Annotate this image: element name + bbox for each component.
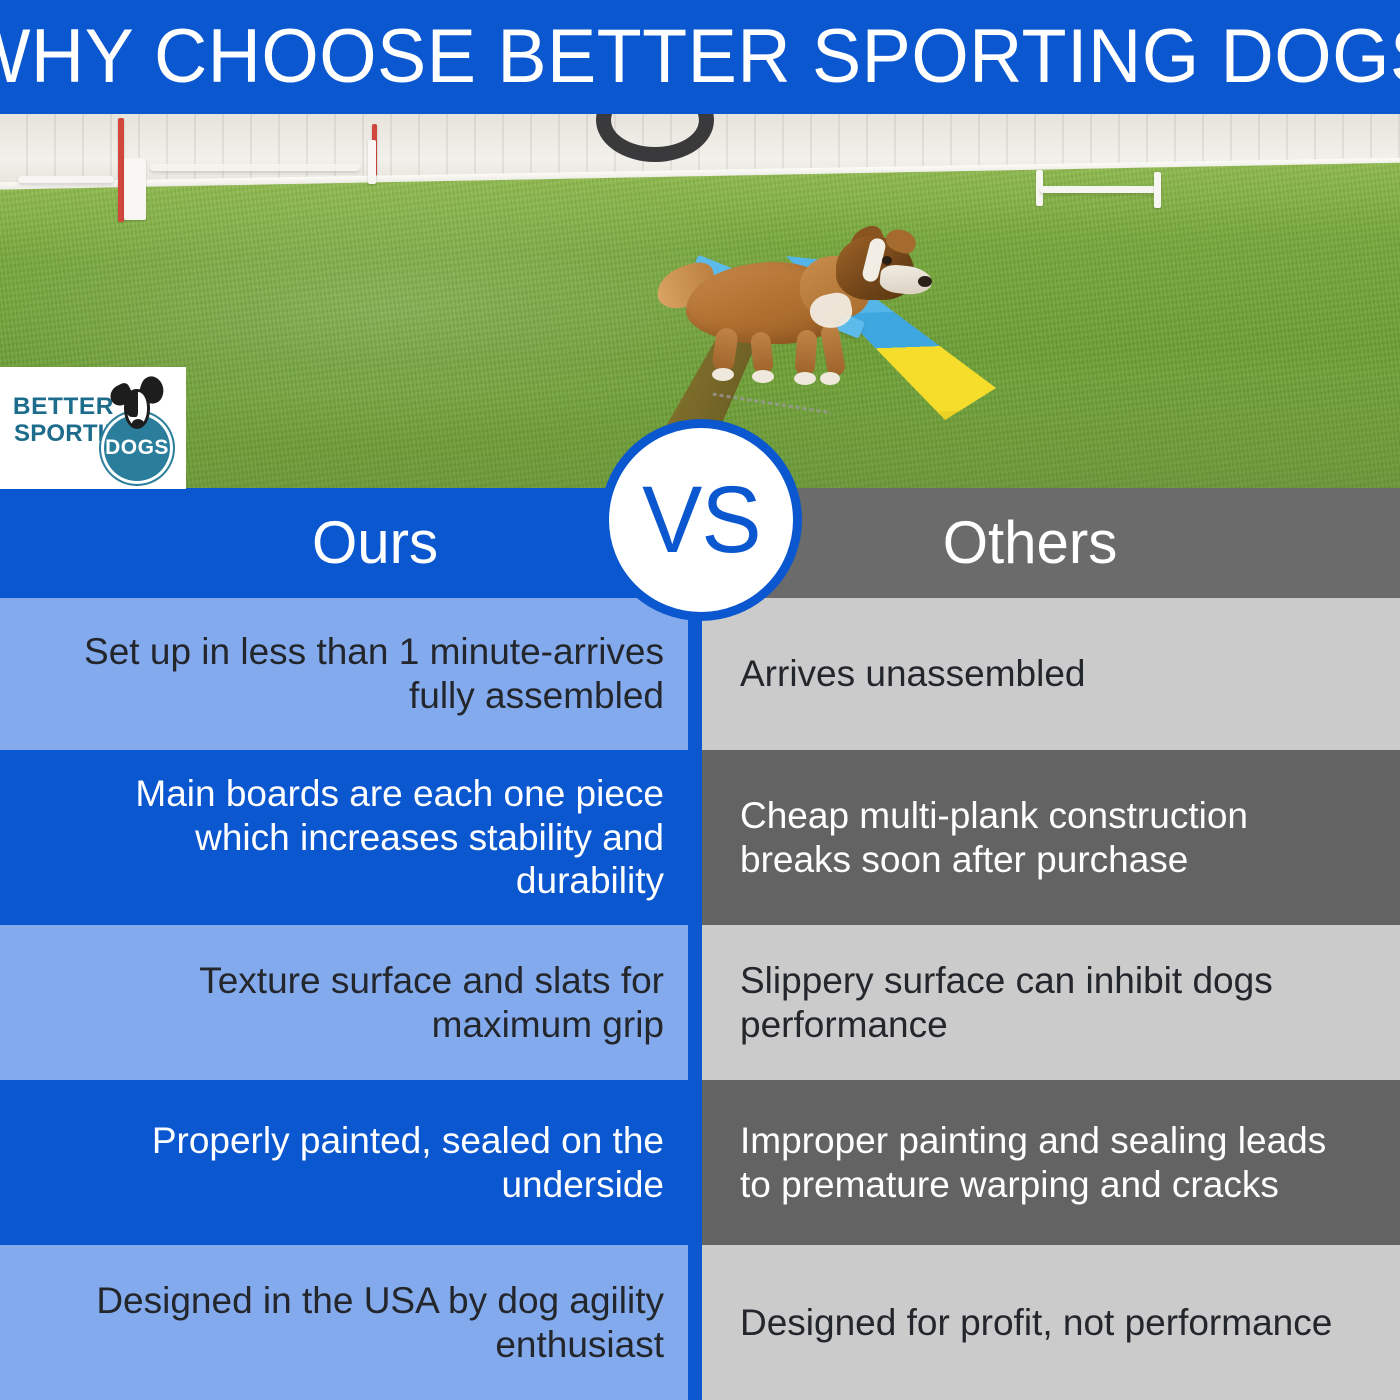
cell-ours: Properly painted, sealed on the undersid… xyxy=(0,1080,700,1245)
cell-ours-text: Texture surface and slats for maximum gr… xyxy=(40,959,664,1046)
dog-paw-3 xyxy=(794,372,816,385)
cell-others: Arrives unassembled xyxy=(700,598,1400,750)
dog-paw-2 xyxy=(752,370,774,383)
logo-dog-nose xyxy=(132,419,144,428)
page-title: WHY CHOOSE BETTER SPORTING DOGS xyxy=(0,19,1400,95)
logo-badge-word: DOGS xyxy=(105,436,169,460)
header-bar: WHY CHOOSE BETTER SPORTING DOGS xyxy=(0,0,1400,114)
cell-ours: Designed in the USA by dog agility enthu… xyxy=(0,1245,690,1400)
column-label-ours: Ours xyxy=(312,513,438,573)
cell-others: Designed for profit, not performance xyxy=(700,1245,1400,1400)
cell-others-text: Designed for profit, not performance xyxy=(740,1301,1332,1345)
jump-bar-right xyxy=(1040,186,1160,193)
logo-inner: BETTER SPORTING DOGS xyxy=(0,367,186,489)
jump-bar-mid xyxy=(150,164,360,171)
jump-pole-mid xyxy=(368,140,376,184)
dog-front-leg xyxy=(794,329,817,376)
cell-others: Cheap multi-plank construction breaks so… xyxy=(700,750,1400,925)
cell-ours-text: Main boards are each one piece which inc… xyxy=(40,772,664,903)
logo-dog-patch xyxy=(125,391,138,417)
column-header-ours: Ours xyxy=(0,488,700,598)
cell-ours-text: Set up in less than 1 minute-arrives ful… xyxy=(40,630,664,717)
dog-nose xyxy=(918,276,932,287)
cell-ours: Main boards are each one piece which inc… xyxy=(0,750,700,925)
column-header-others: Others xyxy=(700,488,1400,598)
cell-others: Slippery surface can inhibit dogs perfor… xyxy=(700,925,1400,1080)
infographic-page: WHY CHOOSE BETTER SPORTING DOGS xyxy=(0,0,1400,1400)
column-divider xyxy=(688,598,702,1400)
logo-line-1: BETTER xyxy=(13,395,125,419)
cell-others: Improper painting and sealing leads to p… xyxy=(700,1080,1400,1245)
jump-pole-far-right xyxy=(1154,172,1161,208)
dog-head-logo-icon xyxy=(112,379,162,431)
cell-ours: Texture surface and slats for maximum gr… xyxy=(0,925,690,1080)
cell-others-text: Cheap multi-plank construction breaks so… xyxy=(740,794,1360,881)
dog-illustration xyxy=(660,232,920,382)
cell-others-text: Slippery surface can inhibit dogs perfor… xyxy=(740,959,1360,1046)
brand-logo[interactable]: BETTER SPORTING DOGS xyxy=(0,367,186,489)
jump-wing-left xyxy=(124,158,146,220)
dog-paw xyxy=(712,368,734,381)
dog-paw-4 xyxy=(820,372,840,385)
cell-ours-text: Designed in the USA by dog agility enthu… xyxy=(40,1279,664,1366)
dog-eye xyxy=(882,256,892,265)
dog-front-leg-2 xyxy=(820,323,847,377)
cell-others-text: Arrives unassembled xyxy=(740,652,1085,696)
cell-ours-text: Properly painted, sealed on the undersid… xyxy=(40,1119,664,1206)
vs-badge: VS xyxy=(600,419,802,621)
vs-label: VS xyxy=(642,473,760,568)
jump-bar-left xyxy=(18,176,114,183)
cell-ours: Set up in less than 1 minute-arrives ful… xyxy=(0,598,690,750)
cell-others-text: Improper painting and sealing leads to p… xyxy=(740,1119,1360,1206)
column-label-others: Others xyxy=(943,513,1118,573)
